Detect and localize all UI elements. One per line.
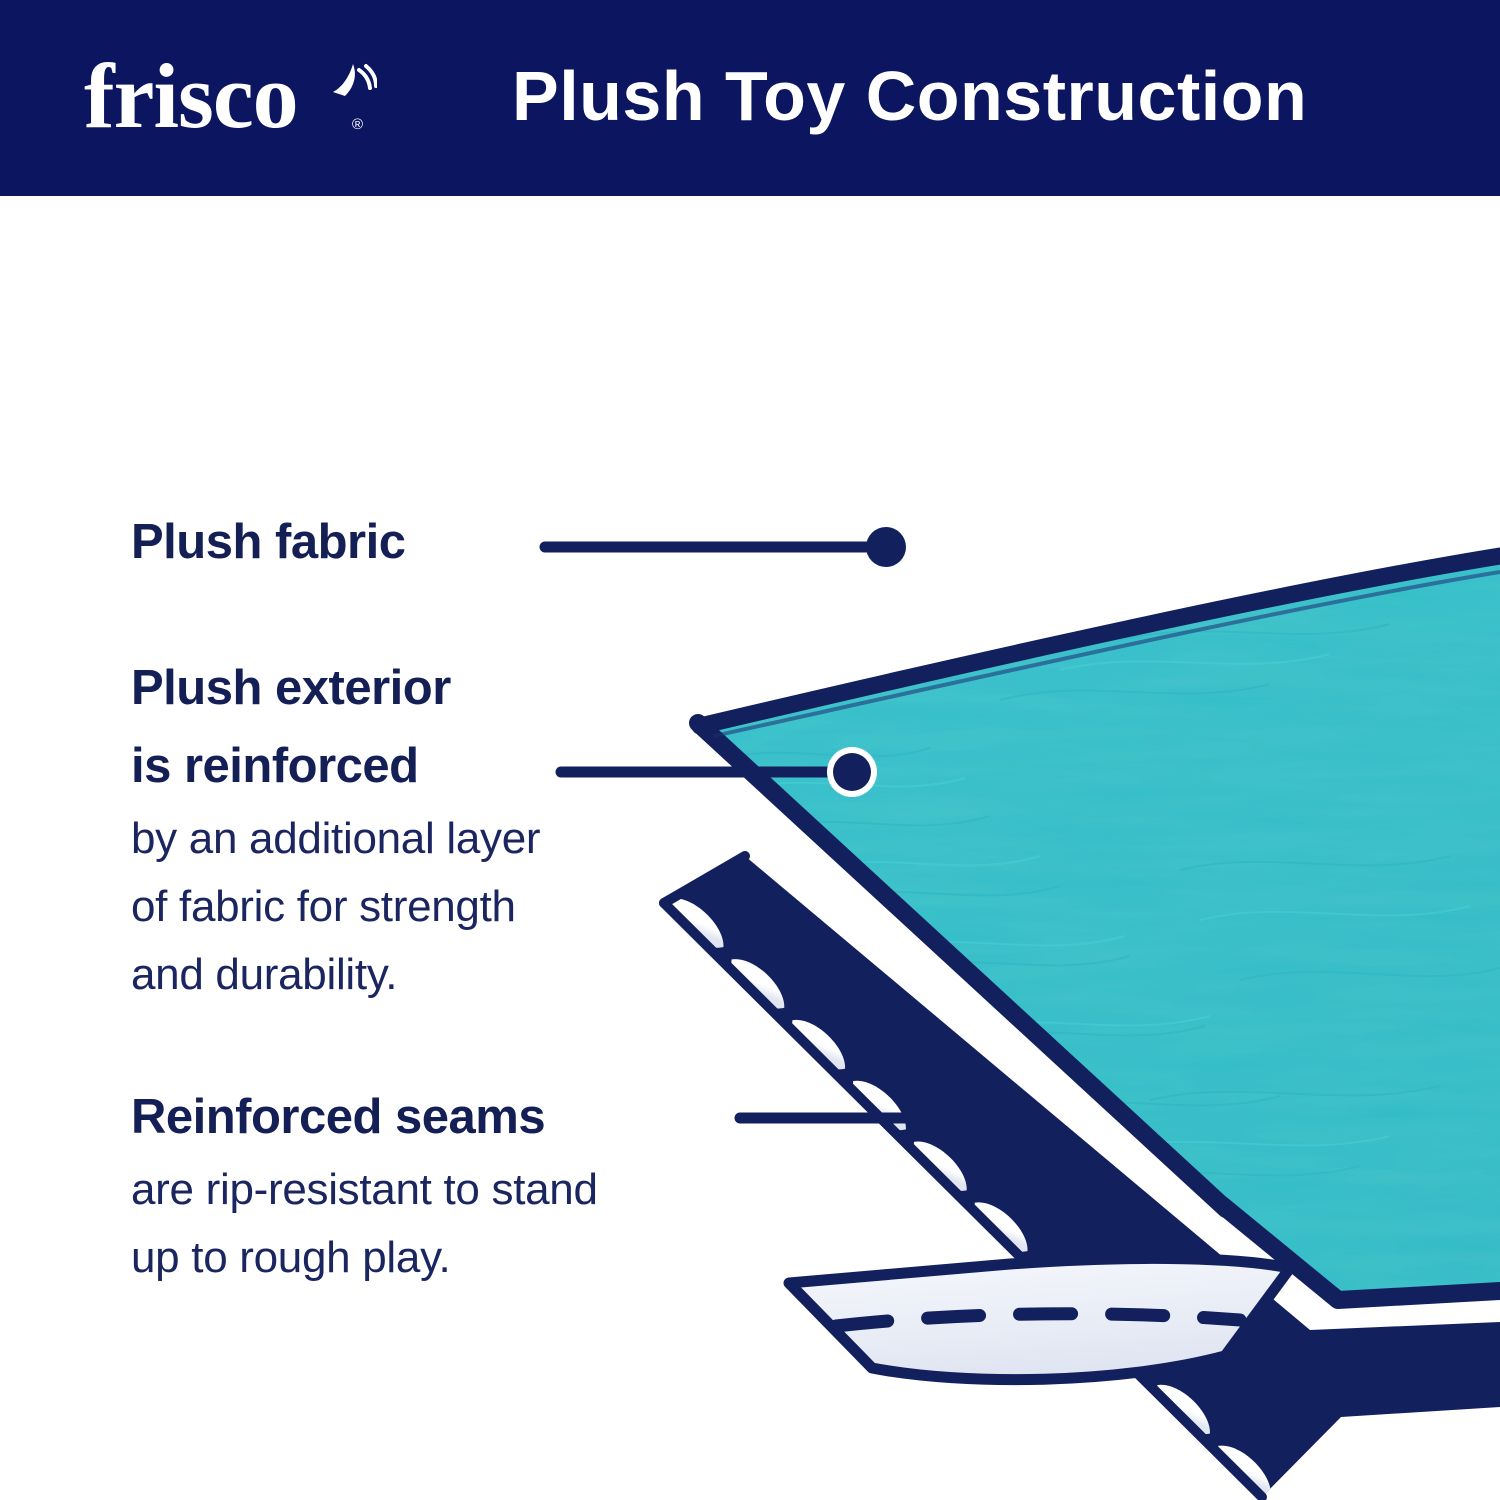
leader-dot-plush-fabric (866, 527, 906, 567)
page-title: Plush Toy Construction (512, 48, 1307, 144)
callout-heading-plush-exterior-line-1: Plush exterior (131, 649, 540, 727)
leader-dot-reinforced-seams (911, 1097, 953, 1139)
callout-heading-plush-exterior-line-2: is reinforced (131, 727, 540, 805)
callout-plush-exterior: Plush exterior is reinforced by an addit… (131, 649, 540, 1009)
frisco-logo: frisco ® (84, 44, 384, 148)
brand-logo-wordmark: frisco (84, 44, 298, 148)
logo-swoosh-icon (331, 62, 377, 106)
infographic-page: frisco ® Plush Toy Construction (0, 0, 1500, 1500)
callout-heading-plush-fabric: Plush fabric (131, 503, 405, 581)
callout-reinforced-seams: Reinforced seams are rip-resistant to st… (131, 1078, 598, 1292)
callout-body-reinforced-seams-line-2: up to rough play. (131, 1224, 598, 1292)
registered-trademark-icon: ® (352, 116, 363, 133)
callout-body-plush-exterior-line-3: and durability. (131, 941, 540, 1009)
seam-flap-layer (789, 1258, 1290, 1379)
callout-plush-fabric: Plush fabric (131, 503, 405, 581)
callout-body-plush-exterior-line-1: by an additional layer (131, 805, 540, 873)
callout-heading-reinforced-seams: Reinforced seams (131, 1078, 598, 1156)
leader-dot-plush-exterior (833, 753, 871, 791)
callout-body-reinforced-seams-line-1: are rip-resistant to stand (131, 1156, 598, 1224)
header-bar: frisco ® Plush Toy Construction (0, 0, 1500, 196)
callout-body-plush-exterior-line-2: of fabric for strength (131, 873, 540, 941)
